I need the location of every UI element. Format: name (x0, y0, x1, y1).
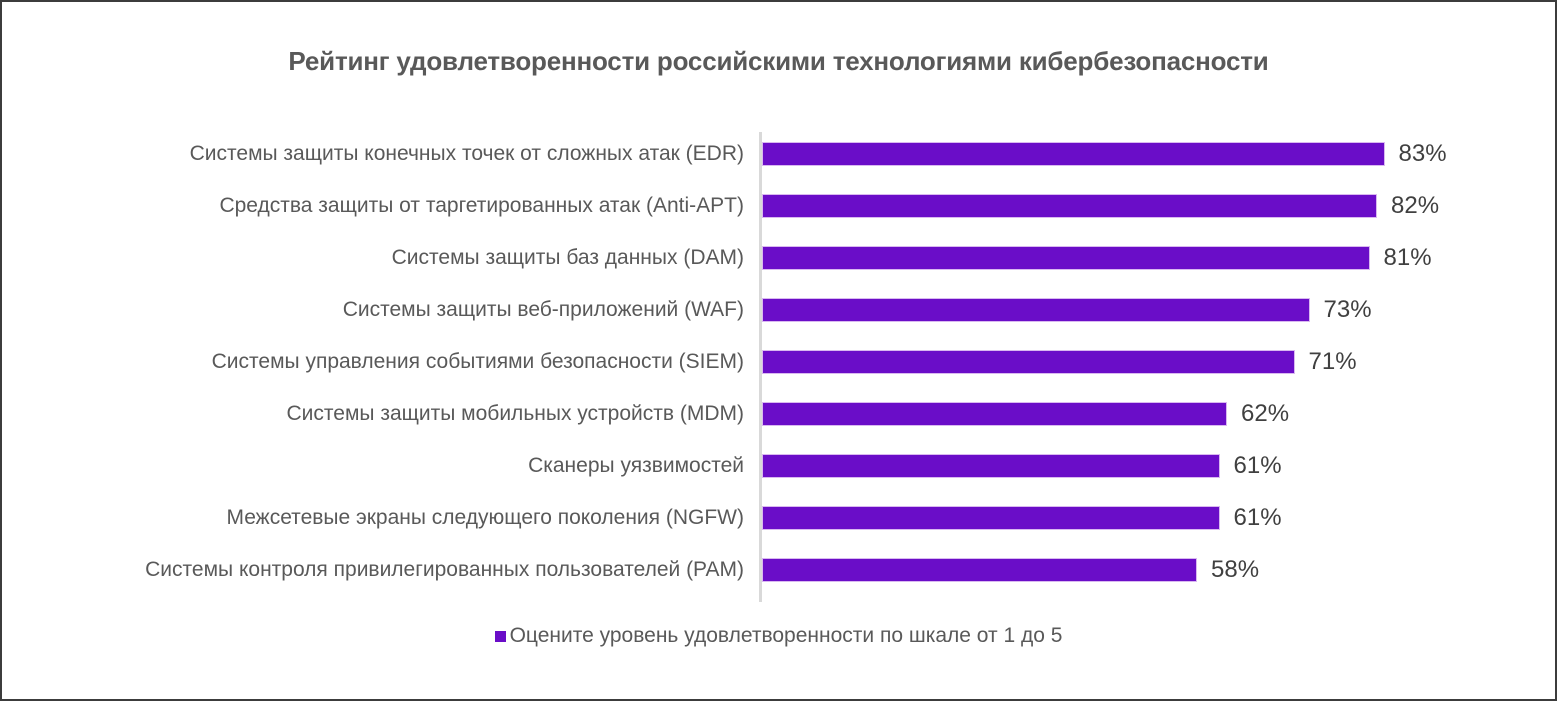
bar-row: Межсетевые экраны следующего поколения (… (2, 492, 1557, 544)
bar-category-label: Системы защиты веб-приложений (WAF) (2, 284, 744, 336)
bar-value-label: 61% (1220, 506, 1282, 530)
bar-track: 61% (762, 506, 1220, 530)
bar-row: Системы защиты конечных точек от сложных… (2, 128, 1557, 180)
bar-category-label: Системы защиты мобильных устройств (MDM) (2, 388, 744, 440)
bar[interactable] (762, 506, 1220, 530)
bar-track: 58% (762, 558, 1197, 582)
bar-track: 81% (762, 246, 1370, 270)
bar-row: Сканеры уязвимостей61% (2, 440, 1557, 492)
bar-row: Системы защиты баз данных (DAM)81% (2, 232, 1557, 284)
bar-category-label: Средства защиты от таргетированных атак … (2, 180, 744, 232)
bar-track: 83% (762, 142, 1385, 166)
legend-series-label: Оцените уровень удовлетворенности по шка… (510, 624, 1063, 648)
chart-title: Рейтинг удовлетворенности российскими те… (2, 46, 1555, 77)
bar-category-label: Системы управления событиями безопасност… (2, 336, 744, 388)
bar[interactable] (762, 350, 1295, 374)
bar-value-label: 73% (1310, 298, 1372, 322)
chart-legend: Оцените уровень удовлетворенности по шка… (2, 624, 1555, 648)
bar[interactable] (762, 194, 1377, 218)
bar-value-label: 61% (1220, 454, 1282, 478)
bar-category-label: Системы защиты баз данных (DAM) (2, 232, 744, 284)
bar-category-label: Межсетевые экраны следующего поколения (… (2, 492, 744, 544)
plot-area: Системы защиты конечных точек от сложных… (2, 128, 1557, 606)
bar-value-label: 71% (1295, 350, 1357, 374)
legend-swatch-icon (495, 631, 506, 642)
bar-track: 73% (762, 298, 1310, 322)
bar-track: 82% (762, 194, 1377, 218)
bar-category-label: Системы защиты конечных точек от сложных… (2, 128, 744, 180)
bar-value-label: 58% (1197, 558, 1259, 582)
bar[interactable] (762, 454, 1220, 478)
bar[interactable] (762, 402, 1227, 426)
bar[interactable] (762, 298, 1310, 322)
bar-row: Системы контроля привилегированных польз… (2, 544, 1557, 596)
bar-value-label: 83% (1385, 142, 1447, 166)
bar[interactable] (762, 558, 1197, 582)
bar-row: Средства защиты от таргетированных атак … (2, 180, 1557, 232)
chart-container: Рейтинг удовлетворенности российскими те… (0, 0, 1557, 701)
bar-row: Системы управления событиями безопасност… (2, 336, 1557, 388)
bar-category-label: Сканеры уязвимостей (2, 440, 744, 492)
bar-value-label: 81% (1370, 246, 1432, 270)
bar-value-label: 62% (1227, 402, 1289, 426)
bar[interactable] (762, 142, 1385, 166)
bar-category-label: Системы контроля привилегированных польз… (2, 544, 744, 596)
bar-row: Системы защиты мобильных устройств (MDM)… (2, 388, 1557, 440)
bar-value-label: 82% (1377, 194, 1439, 218)
bar-track: 62% (762, 402, 1227, 426)
bar-track: 61% (762, 454, 1220, 478)
bar-row: Системы защиты веб-приложений (WAF)73% (2, 284, 1557, 336)
bar-track: 71% (762, 350, 1295, 374)
bar[interactable] (762, 246, 1370, 270)
